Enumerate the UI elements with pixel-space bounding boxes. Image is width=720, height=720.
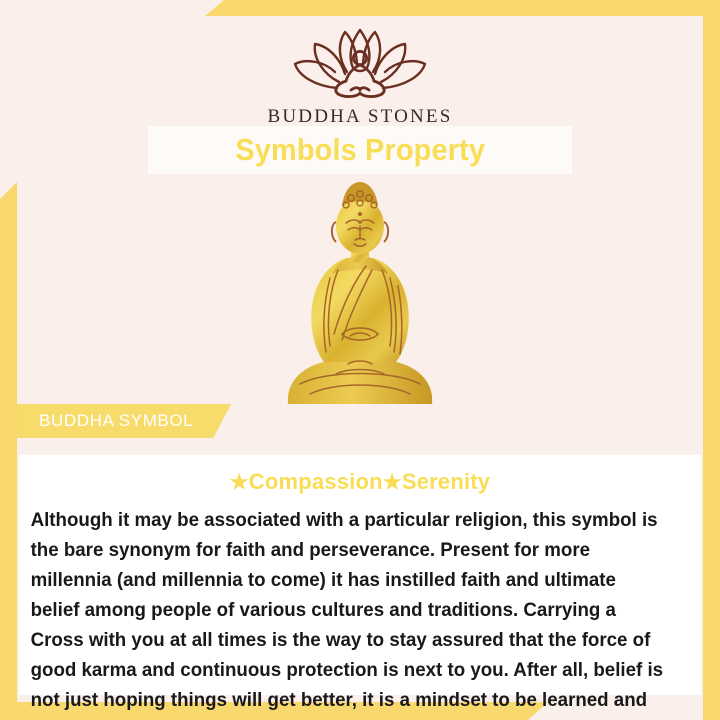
article-body: Although it may be associated with a par… [19, 495, 677, 720]
seated-buddha-statue-icon [272, 178, 448, 410]
article-card: ★Compassion★Serenity Although it may be … [19, 455, 701, 695]
virtue-compassion: Compassion [249, 469, 383, 494]
virtue-serenity: Serenity [402, 469, 490, 494]
decor-band-top [205, 0, 720, 16]
section-ribbon-label: BUDDHA SYMBOL [39, 411, 193, 431]
page-title: Symbols Property [235, 132, 485, 168]
hero-image [0, 178, 720, 410]
lotus-meditation-icon [285, 26, 435, 100]
star-icon-one: ★ [230, 471, 249, 494]
brand-block: BUDDHA STONES [0, 26, 720, 128]
brand-name: BUDDHA STONES [0, 106, 720, 128]
poster-canvas: BUDDHA STONES Symbols Property [0, 0, 720, 720]
section-ribbon: BUDDHA SYMBOL [17, 404, 231, 438]
title-plaque: Symbols Property [148, 126, 572, 174]
star-icon-two: ★ [383, 471, 402, 494]
virtues-line: ★Compassion★Serenity [19, 455, 701, 495]
